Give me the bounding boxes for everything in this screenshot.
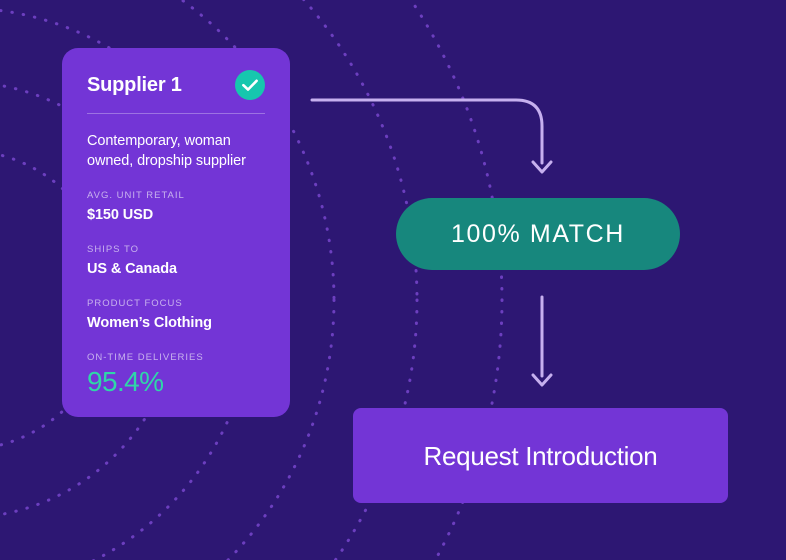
match-score-badge: 100% MATCH — [396, 198, 680, 270]
field-label: AVG. UNIT RETAIL — [87, 190, 265, 202]
field-on-time-deliveries: ON-TIME DELIVERIES 95.4% — [87, 352, 265, 399]
supplier-description: Contemporary, woman owned, dropship supp… — [87, 131, 265, 171]
match-score-label: 100% MATCH — [451, 219, 625, 249]
field-avg-unit-retail: AVG. UNIT RETAIL $150 USD — [87, 190, 265, 225]
supplier-card-header: Supplier 1 — [87, 70, 265, 100]
field-value: US & Canada — [87, 260, 265, 279]
field-product-focus: PRODUCT FOCUS Women’s Clothing — [87, 298, 265, 333]
field-label: ON-TIME DELIVERIES — [87, 352, 265, 364]
field-ships-to: SHIPS TO US & Canada — [87, 244, 265, 279]
field-label: PRODUCT FOCUS — [87, 298, 265, 310]
field-value: $150 USD — [87, 206, 265, 225]
supplier-name: Supplier 1 — [87, 72, 182, 98]
card-to-match-arrowhead — [533, 162, 551, 172]
field-value: Women’s Clothing — [87, 314, 265, 333]
match-to-cta-arrowhead — [533, 375, 551, 385]
infographic-canvas: Supplier 1 Contemporary, woman owned, dr… — [0, 0, 786, 560]
request-introduction-button[interactable]: Request Introduction — [353, 408, 728, 503]
field-label: SHIPS TO — [87, 244, 265, 256]
on-time-deliveries-metric: 95.4% — [87, 365, 265, 399]
card-divider — [87, 113, 265, 114]
check-circle-icon — [235, 70, 265, 100]
supplier-card: Supplier 1 Contemporary, woman owned, dr… — [62, 48, 290, 417]
request-introduction-label: Request Introduction — [424, 440, 658, 472]
card-to-match-arrow — [312, 100, 542, 163]
